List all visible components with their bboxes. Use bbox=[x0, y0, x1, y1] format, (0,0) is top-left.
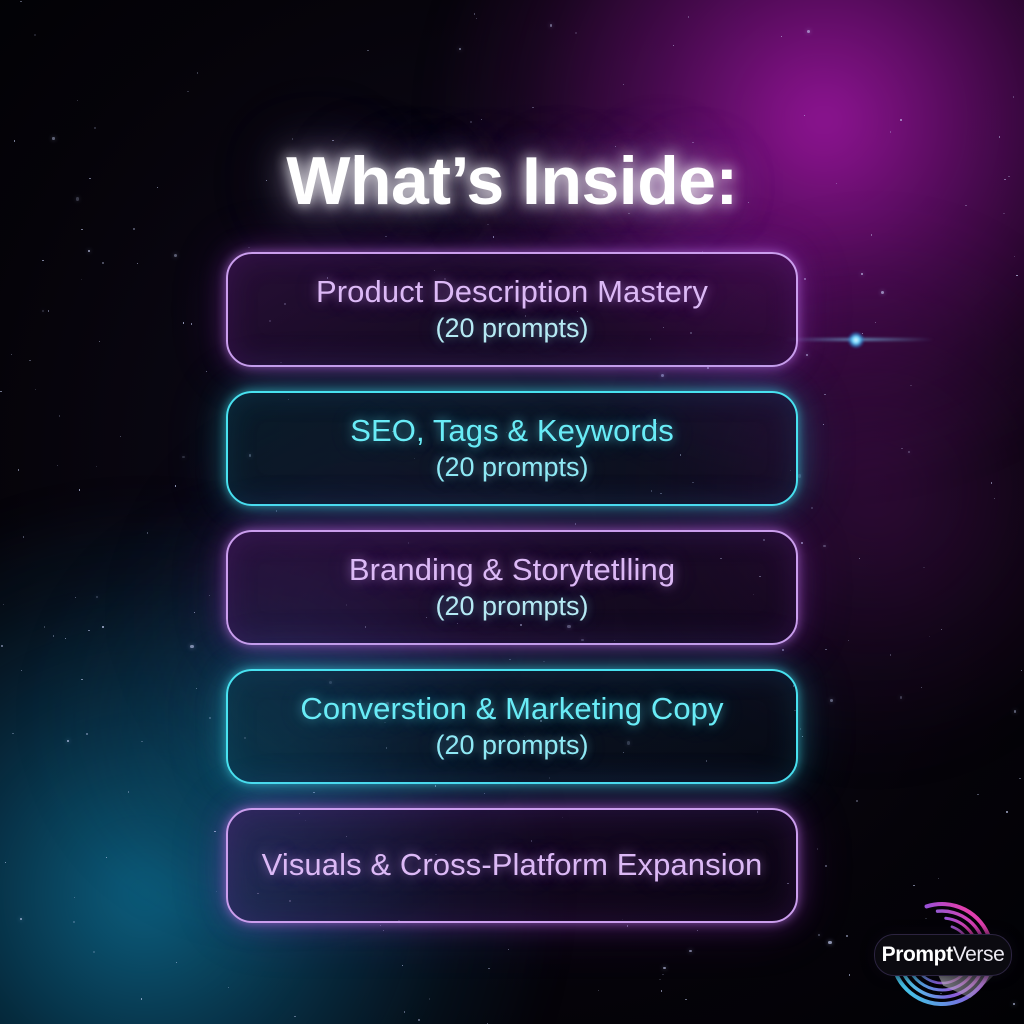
feature-card[interactable]: Branding & Storytetlling(20 prompts) bbox=[226, 530, 798, 645]
feature-card-prompt-count: (20 prompts) bbox=[435, 730, 588, 761]
feature-card-prompt-count: (20 prompts) bbox=[435, 313, 588, 344]
feature-card-title: SEO, Tags & Keywords bbox=[350, 414, 674, 449]
logo-word-verse: Verse bbox=[953, 943, 1005, 966]
feature-card[interactable]: Converstion & Marketing Copy(20 prompts) bbox=[226, 669, 798, 784]
feature-card[interactable]: Visuals & Cross-Platform Expansion bbox=[226, 808, 798, 923]
logo-wordmark-pill: PromptVerse bbox=[874, 934, 1012, 976]
feature-card-title: Converstion & Marketing Copy bbox=[300, 692, 723, 727]
poster-canvas: What’s Inside: Product Description Maste… bbox=[0, 0, 1024, 1024]
page-title: What’s Inside: bbox=[286, 142, 737, 220]
logo-wordmark: PromptVerse bbox=[882, 943, 1005, 967]
feature-card-prompt-count: (20 prompts) bbox=[435, 452, 588, 483]
page-title-container: What’s Inside: bbox=[0, 96, 1024, 265]
feature-card-title: Branding & Storytetlling bbox=[349, 553, 675, 588]
feature-card[interactable]: Product Description Mastery(20 prompts) bbox=[226, 252, 798, 367]
feature-card-title: Product Description Mastery bbox=[316, 275, 708, 310]
feature-card-list: Product Description Mastery(20 prompts)S… bbox=[226, 252, 798, 923]
promptverse-logo[interactable]: PromptVerse bbox=[872, 898, 1012, 1010]
feature-card-prompt-count: (20 prompts) bbox=[435, 591, 588, 622]
feature-card[interactable]: SEO, Tags & Keywords(20 prompts) bbox=[226, 391, 798, 506]
feature-card-title: Visuals & Cross-Platform Expansion bbox=[262, 848, 763, 883]
logo-word-prompt: Prompt bbox=[882, 943, 953, 966]
